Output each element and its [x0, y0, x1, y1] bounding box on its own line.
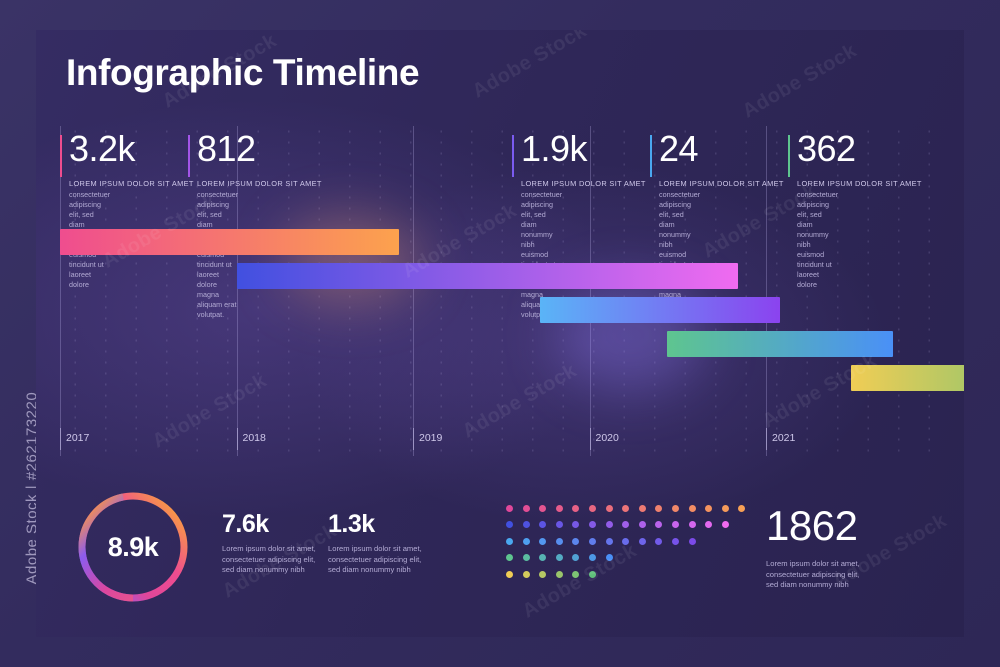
bottom-stat-caption-line: Lorem ipsum dolor sit amet, [222, 544, 316, 555]
dotted-grid [60, 126, 940, 456]
column-accent-bar [60, 135, 62, 177]
column-body-line: magna aliquam erat volutpat. [197, 290, 238, 320]
page-title: Infographic Timeline [66, 52, 419, 94]
highlight-figure: 1862 Lorem ipsum dolor sit amet,consecte… [766, 502, 956, 591]
dot-matrix-dot [738, 505, 745, 512]
year-tick-mark [237, 428, 238, 450]
column-accent-bar [512, 135, 514, 177]
bottom-stat-1: 7.6kLorem ipsum dolor sit amet,consectet… [222, 510, 316, 576]
bottom-stat-caption: Lorem ipsum dolor sit amet,consectetuer … [328, 544, 422, 576]
dot-matrix-dot [556, 521, 563, 528]
tile-watermark: Adobe Stock [739, 40, 861, 124]
year-tick-mark [590, 428, 591, 450]
dot-matrix-dot [705, 521, 712, 528]
column-accent-bar [788, 135, 790, 177]
bottom-stat-caption-line: sed diam nonummy nibh [328, 565, 422, 576]
dot-matrix-dot [523, 521, 530, 528]
dot-matrix-dot [539, 571, 546, 578]
dot-matrix-dot [523, 505, 530, 512]
dot-matrix-dot [572, 571, 579, 578]
dot-matrix-row-5 [506, 571, 745, 578]
column-value: 1.9k [521, 128, 587, 170]
dot-matrix-dot [556, 571, 563, 578]
dot-matrix-dot [556, 538, 563, 545]
dot-matrix-dot [639, 538, 646, 545]
year-tick-mark [766, 428, 767, 450]
column-body-line: laoreet dolore [797, 270, 838, 290]
dot-matrix-dot [589, 571, 596, 578]
bottom-stat-caption-line: sed diam nonummy nibh [222, 565, 316, 576]
bottom-stat-caption: Lorem ipsum dolor sit amet,consectetuer … [222, 544, 316, 576]
year-label: 2017 [66, 432, 89, 444]
bottom-stat-number: 1.3k [328, 510, 422, 539]
column-heading: LOREM IPSUM DOLOR SIT AMET [69, 179, 194, 188]
dot-matrix-dot [606, 538, 613, 545]
dot-matrix-dot [589, 538, 596, 545]
year-tick-mark [413, 428, 414, 450]
column-heading: LOREM IPSUM DOLOR SIT AMET [659, 179, 784, 188]
dot-matrix-dot [572, 554, 579, 561]
dot-matrix-dot [539, 538, 546, 545]
dot-matrix-dot [589, 554, 596, 561]
dot-matrix-dot [606, 505, 613, 512]
column-body-line: consectetuer adipiscing elit, sed diam [521, 190, 562, 230]
dot-matrix-dot [655, 521, 662, 528]
dot-matrix-dot [689, 538, 696, 545]
column-body-line: consectetuer adipiscing elit, sed diam [797, 190, 838, 230]
dot-matrix-dot [722, 505, 729, 512]
dot-matrix-dot [655, 505, 662, 512]
dot-matrix-dot [622, 538, 629, 545]
dot-matrix-dot [722, 521, 729, 528]
year-gridline [766, 126, 767, 456]
poster-panel: Infographic Timeline 3.2kLOREM IPSUM DOL… [36, 30, 964, 637]
year-label: 2019 [419, 432, 442, 444]
bottom-stat-2: 1.3kLorem ipsum dolor sit amet,consectet… [328, 510, 422, 576]
gantt-bar-4[interactable] [667, 331, 893, 357]
gantt-bar-3[interactable] [540, 297, 780, 323]
bottom-stat-caption-line: Lorem ipsum dolor sit amet, [328, 544, 422, 555]
column-heading: LOREM IPSUM DOLOR SIT AMET [197, 179, 322, 188]
highlight-figure-caption: Lorem ipsum dolor sit amet,consectetuer … [766, 559, 956, 591]
column-accent-bar [650, 135, 652, 177]
gantt-bar-1[interactable] [60, 229, 399, 255]
highlight-figure-number: 1862 [766, 502, 956, 550]
dot-matrix-dot [589, 505, 596, 512]
column-value: 3.2k [69, 128, 135, 170]
dot-matrix-dot [506, 538, 513, 545]
dot-matrix-dot [689, 521, 696, 528]
dot-matrix-dot [672, 521, 679, 528]
dot-matrix-row-3 [506, 538, 745, 545]
dot-matrix-dot [672, 505, 679, 512]
highlight-figure-caption-line: Lorem ipsum dolor sit amet, [766, 559, 956, 570]
gantt-bar-5[interactable] [851, 365, 964, 391]
dot-matrix-row-2 [506, 521, 745, 528]
column-body: consectetuer adipiscing elit, sed diamno… [797, 190, 838, 290]
tile-watermark: Adobe Stock [469, 30, 591, 103]
bottom-stat-caption-line: consectetuer adipiscing elit, [222, 555, 316, 566]
year-label: 2018 [243, 432, 266, 444]
dot-matrix-dot [606, 554, 613, 561]
column-heading: LOREM IPSUM DOLOR SIT AMET [797, 179, 922, 188]
column-body-line: nonummy nibh euismod tincidunt ut [797, 230, 838, 270]
gantt-bar-2[interactable] [237, 263, 738, 289]
dot-matrix-dot [506, 554, 513, 561]
year-label: 2020 [596, 432, 619, 444]
donut-chart: 8.9k [74, 488, 192, 606]
year-gridline [590, 126, 591, 456]
tile-watermark: Adobe Stock [459, 360, 581, 444]
highlight-figure-caption-line: sed diam nonummy nibh [766, 580, 956, 591]
dot-matrix-dot [572, 521, 579, 528]
dot-matrix-dot [523, 571, 530, 578]
dot-matrix-dot [622, 521, 629, 528]
dot-matrix-dot [506, 521, 513, 528]
dot-matrix-dot [639, 521, 646, 528]
infographic-canvas: Adobe Stock | #262173220 Infographic Tim… [0, 0, 1000, 667]
column-value: 812 [197, 128, 256, 170]
column-value: 24 [659, 128, 698, 170]
year-tick-mark [60, 428, 61, 450]
tile-watermark: Adobe Stock [759, 350, 881, 434]
dot-matrix-dot [523, 554, 530, 561]
dot-matrix-dot [655, 538, 662, 545]
dot-matrix-dot [639, 505, 646, 512]
dot-matrix-row-4 [506, 554, 745, 561]
bottom-stat-number: 7.6k [222, 510, 316, 539]
dot-matrix-dot [539, 554, 546, 561]
dot-matrix-dot [672, 538, 679, 545]
dot-matrix-dot [572, 505, 579, 512]
dot-matrix-dot [539, 505, 546, 512]
dot-matrix-dot [572, 538, 579, 545]
column-heading: LOREM IPSUM DOLOR SIT AMET [521, 179, 646, 188]
column-body-line: consectetuer adipiscing elit, sed diam [659, 190, 700, 230]
bottom-stat-caption-line: consectetuer adipiscing elit, [328, 555, 422, 566]
dot-matrix-dot [689, 505, 696, 512]
year-gridline [413, 126, 414, 456]
dot-matrix-dot [539, 521, 546, 528]
column-body: consectetuer adipiscing elit, sed diam n… [197, 190, 238, 320]
dot-matrix-dot [556, 505, 563, 512]
dot-matrix-dot [506, 571, 513, 578]
donut-value: 8.9k [74, 488, 192, 606]
dot-matrix-dot [622, 505, 629, 512]
dot-matrix-dot [523, 538, 530, 545]
dot-matrix-dot [606, 521, 613, 528]
dot-matrix-chart [506, 505, 745, 587]
column-value: 362 [797, 128, 856, 170]
dot-matrix-dot [556, 554, 563, 561]
highlight-figure-caption-line: consectetuer adipiscing elit, [766, 570, 956, 581]
dot-matrix-dot [705, 505, 712, 512]
dot-matrix-dot [589, 521, 596, 528]
dot-matrix-row-1 [506, 505, 745, 512]
dot-matrix-dot [506, 505, 513, 512]
year-label: 2021 [772, 432, 795, 444]
column-accent-bar [188, 135, 190, 177]
